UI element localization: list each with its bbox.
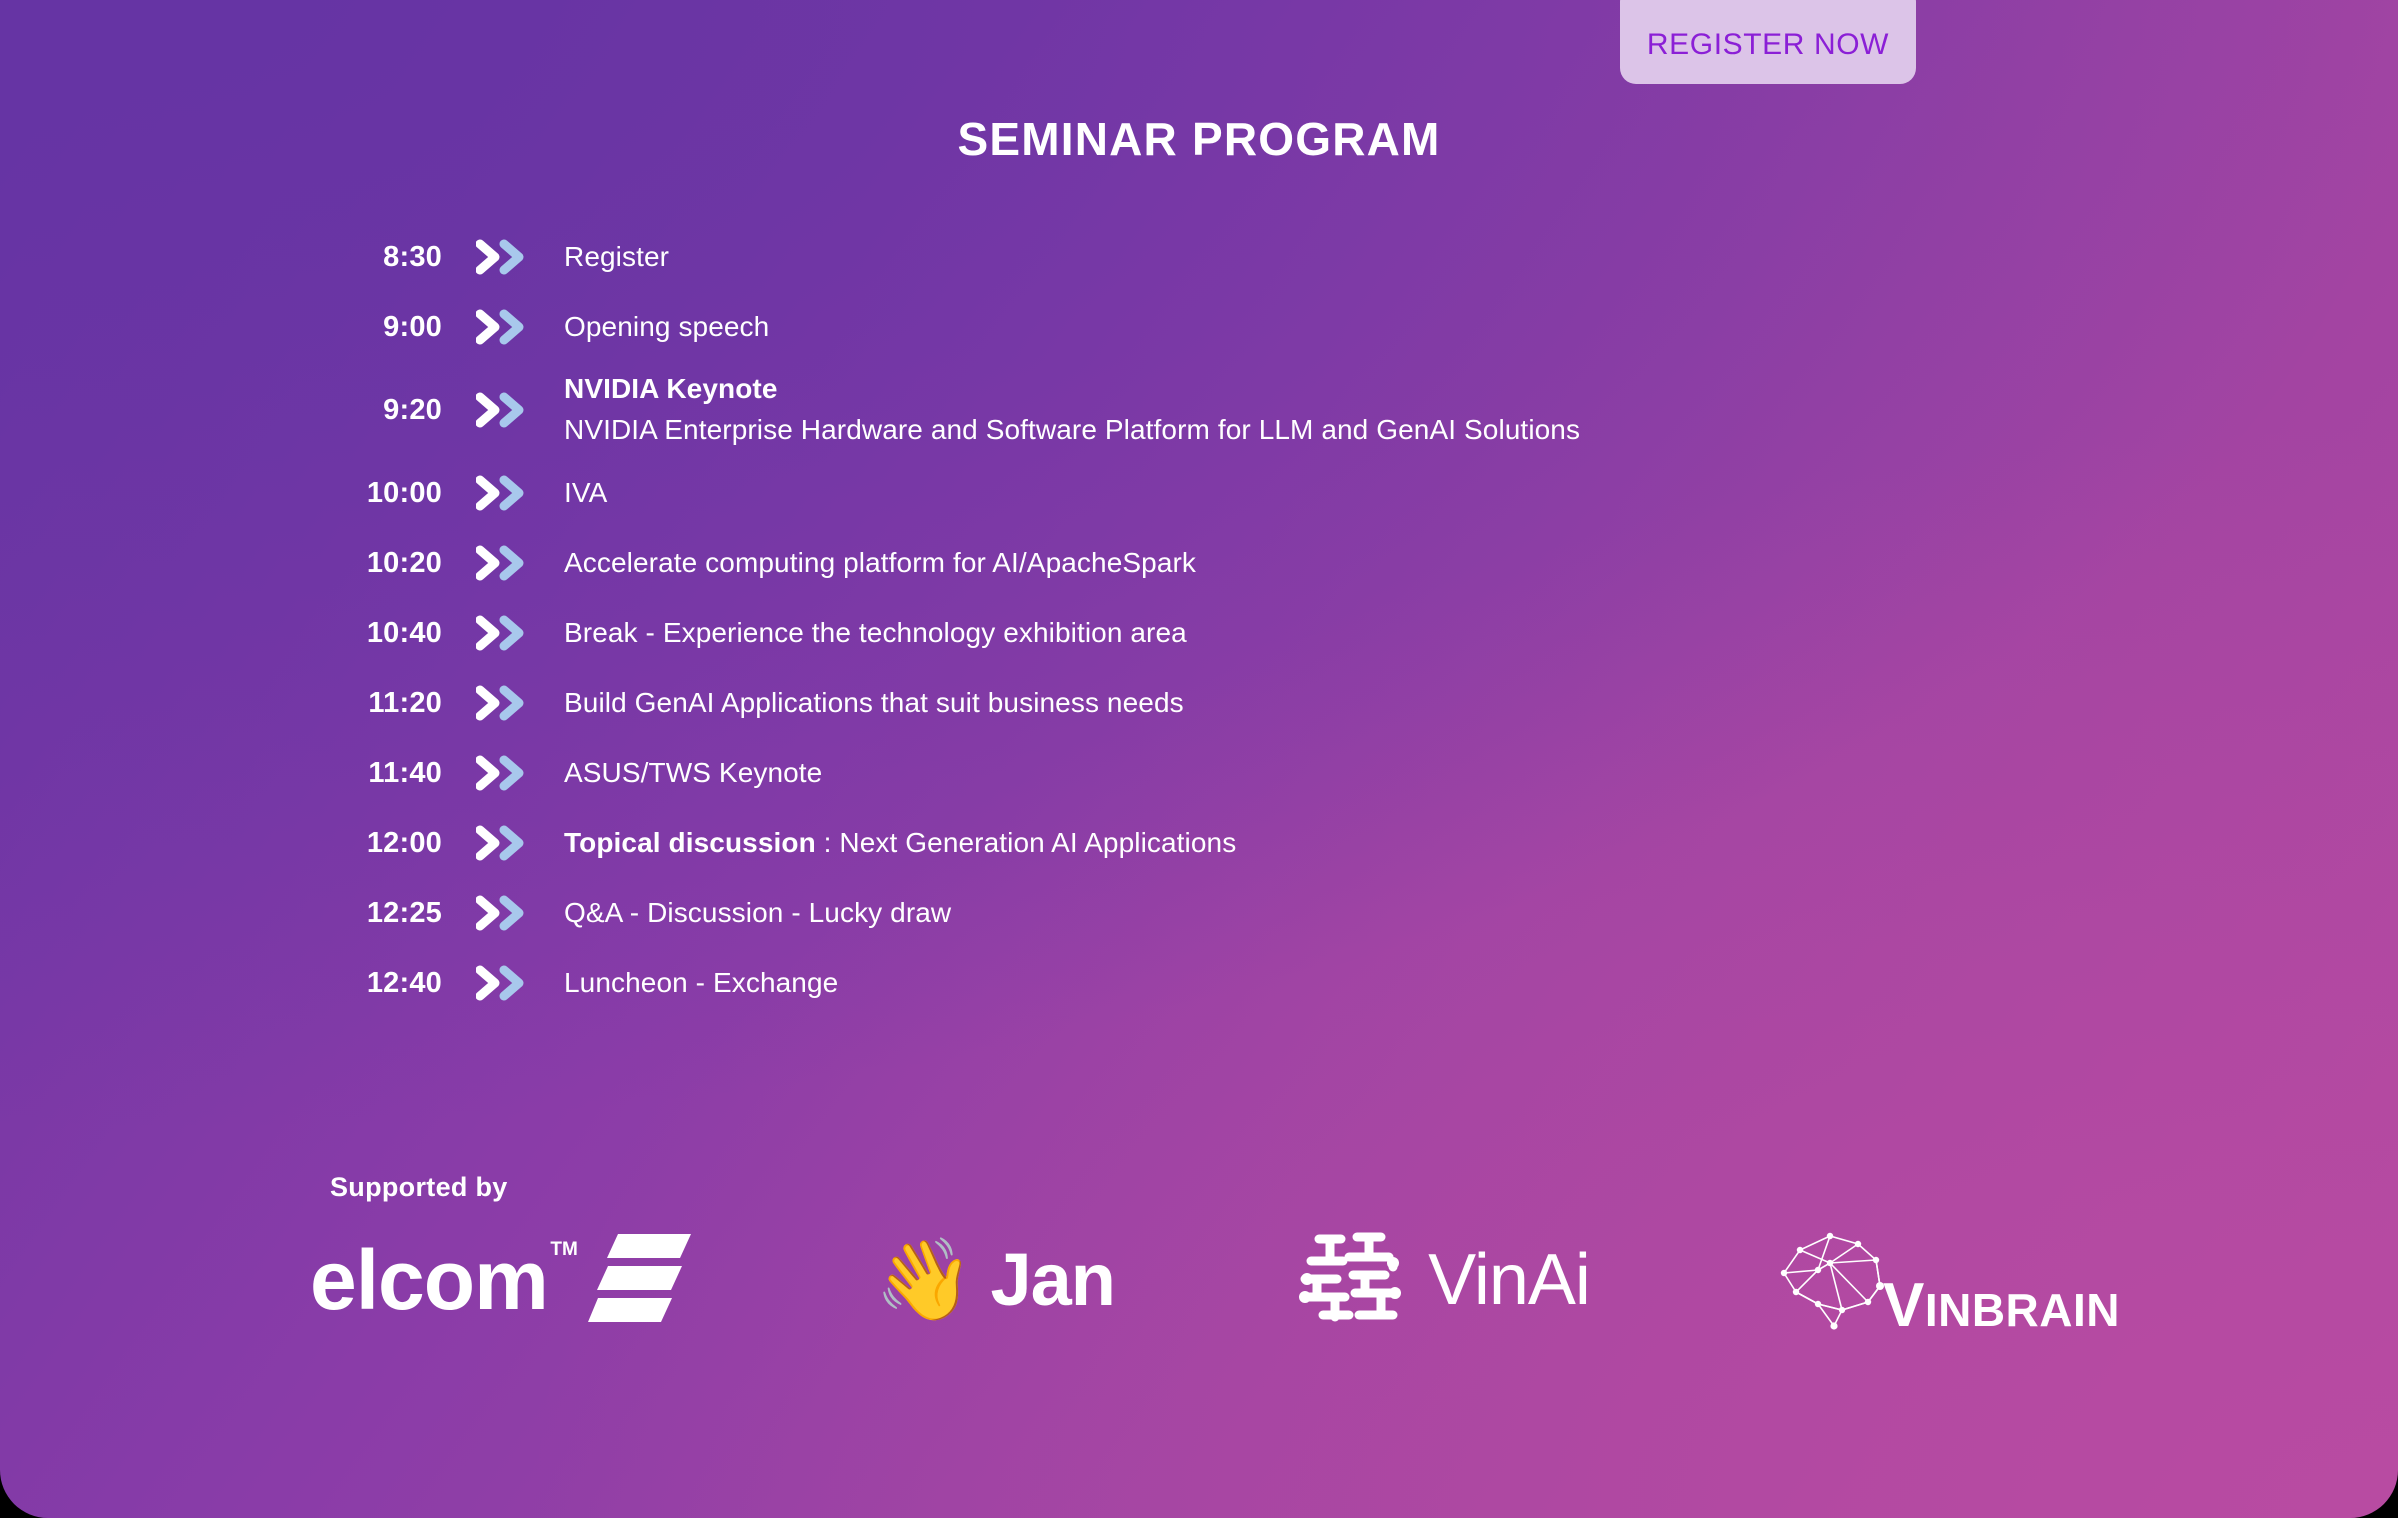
schedule-text: Topical discussion : Next Generation AI …: [564, 823, 1236, 864]
schedule-text: Accelerate computing platform for AI/Apa…: [564, 543, 1196, 584]
schedule-time: 12:25: [330, 897, 442, 930]
jan-wordmark: Jan: [990, 1243, 1115, 1317]
double-chevron-icon: [476, 963, 536, 1003]
schedule-list: 8:30 Register 9:00 Opening speech 9:: [330, 222, 2030, 1018]
seminar-program-page: REGISTER NOW SEMINAR PROGRAM 8:30 Regist…: [0, 0, 2398, 1518]
schedule-time: 12:00: [330, 827, 442, 860]
trademark-icon: TM: [550, 1240, 577, 1259]
sponsor-logo-elcom[interactable]: elcom TM: [310, 1215, 693, 1345]
schedule-text: Register: [564, 237, 669, 278]
schedule-row: 9:20 NVIDIA Keynote NVIDIA Enterprise Ha…: [330, 362, 2030, 458]
double-chevron-icon: [476, 237, 536, 277]
page-title: SEMINAR PROGRAM: [0, 112, 2398, 166]
schedule-row: 10:20 Accelerate computing platform for …: [330, 528, 2030, 598]
schedule-time: 8:30: [330, 241, 442, 274]
vinbrain-wordmark: VINBRAIN: [1883, 1275, 2120, 1337]
schedule-time: 11:20: [330, 687, 442, 720]
schedule-row: 12:40 Luncheon - Exchange: [330, 948, 2030, 1018]
double-chevron-icon: [476, 683, 536, 723]
double-chevron-icon: [476, 753, 536, 793]
sponsor-logo-row: elcom TM 👋 Jan: [310, 1215, 2120, 1345]
schedule-row: 12:00 Topical discussion : Next Generati…: [330, 808, 2030, 878]
waving-hand-icon: 👋: [875, 1240, 975, 1320]
double-chevron-icon: [476, 613, 536, 653]
schedule-text-rest: : Next Generation AI Applications: [816, 827, 1237, 858]
supported-by-label: Supported by: [330, 1172, 508, 1203]
schedule-row: 8:30 Register: [330, 222, 2030, 292]
schedule-row: 10:00 IVA: [330, 458, 2030, 528]
schedule-time: 10:20: [330, 547, 442, 580]
schedule-text: Opening speech: [564, 307, 769, 348]
register-now-button[interactable]: REGISTER NOW: [1620, 0, 1916, 84]
schedule-row: 12:25 Q&A - Discussion - Lucky draw: [330, 878, 2030, 948]
double-chevron-icon: [476, 473, 536, 513]
schedule-text: Luncheon - Exchange: [564, 963, 838, 1004]
vinbrain-rest: INBRAIN: [1925, 1284, 2120, 1336]
schedule-text: Q&A - Discussion - Lucky draw: [564, 893, 951, 934]
sponsor-logo-jan[interactable]: 👋 Jan: [875, 1215, 1115, 1345]
schedule-time: 12:40: [330, 967, 442, 1000]
double-chevron-icon: [476, 543, 536, 583]
schedule-text: Break - Experience the technology exhibi…: [564, 613, 1187, 654]
double-chevron-icon: [476, 823, 536, 863]
elcom-e-mark-icon: [588, 1230, 693, 1330]
schedule-text-bold-prefix: Topical discussion: [564, 827, 816, 858]
double-chevron-icon: [476, 893, 536, 933]
schedule-time: 10:40: [330, 617, 442, 650]
double-chevron-icon: [476, 390, 536, 430]
schedule-text-title: NVIDIA Keynote: [564, 369, 1580, 410]
schedule-row: 9:00 Opening speech: [330, 292, 2030, 362]
schedule-text: IVA: [564, 473, 607, 514]
vinai-circuit-mark-icon: [1297, 1223, 1412, 1338]
schedule-row: 10:40 Break - Experience the technology …: [330, 598, 2030, 668]
schedule-row: 11:40 ASUS/TWS Keynote: [330, 738, 2030, 808]
schedule-time: 11:40: [330, 757, 442, 790]
schedule-text: NVIDIA Keynote NVIDIA Enterprise Hardwar…: [564, 369, 1580, 450]
schedule-time: 9:20: [330, 394, 442, 427]
sponsor-logo-vinbrain[interactable]: VINBRAIN: [1772, 1215, 2120, 1345]
schedule-row: 11:20 Build GenAI Applications that suit…: [330, 668, 2030, 738]
schedule-text: Build GenAI Applications that suit busin…: [564, 683, 1184, 724]
vinai-wordmark: VinAi: [1428, 1244, 1590, 1316]
elcom-wordmark: elcom TM: [310, 1238, 548, 1322]
schedule-text-subtitle: NVIDIA Enterprise Hardware and Software …: [564, 410, 1580, 451]
sponsor-logo-vinai[interactable]: VinAi: [1297, 1215, 1590, 1345]
schedule-time: 9:00: [330, 311, 442, 344]
elcom-word-text: elcom: [310, 1233, 548, 1327]
vinbrain-initial: V: [1883, 1271, 1925, 1340]
schedule-time: 10:00: [330, 477, 442, 510]
double-chevron-icon: [476, 307, 536, 347]
schedule-text: ASUS/TWS Keynote: [564, 753, 822, 794]
